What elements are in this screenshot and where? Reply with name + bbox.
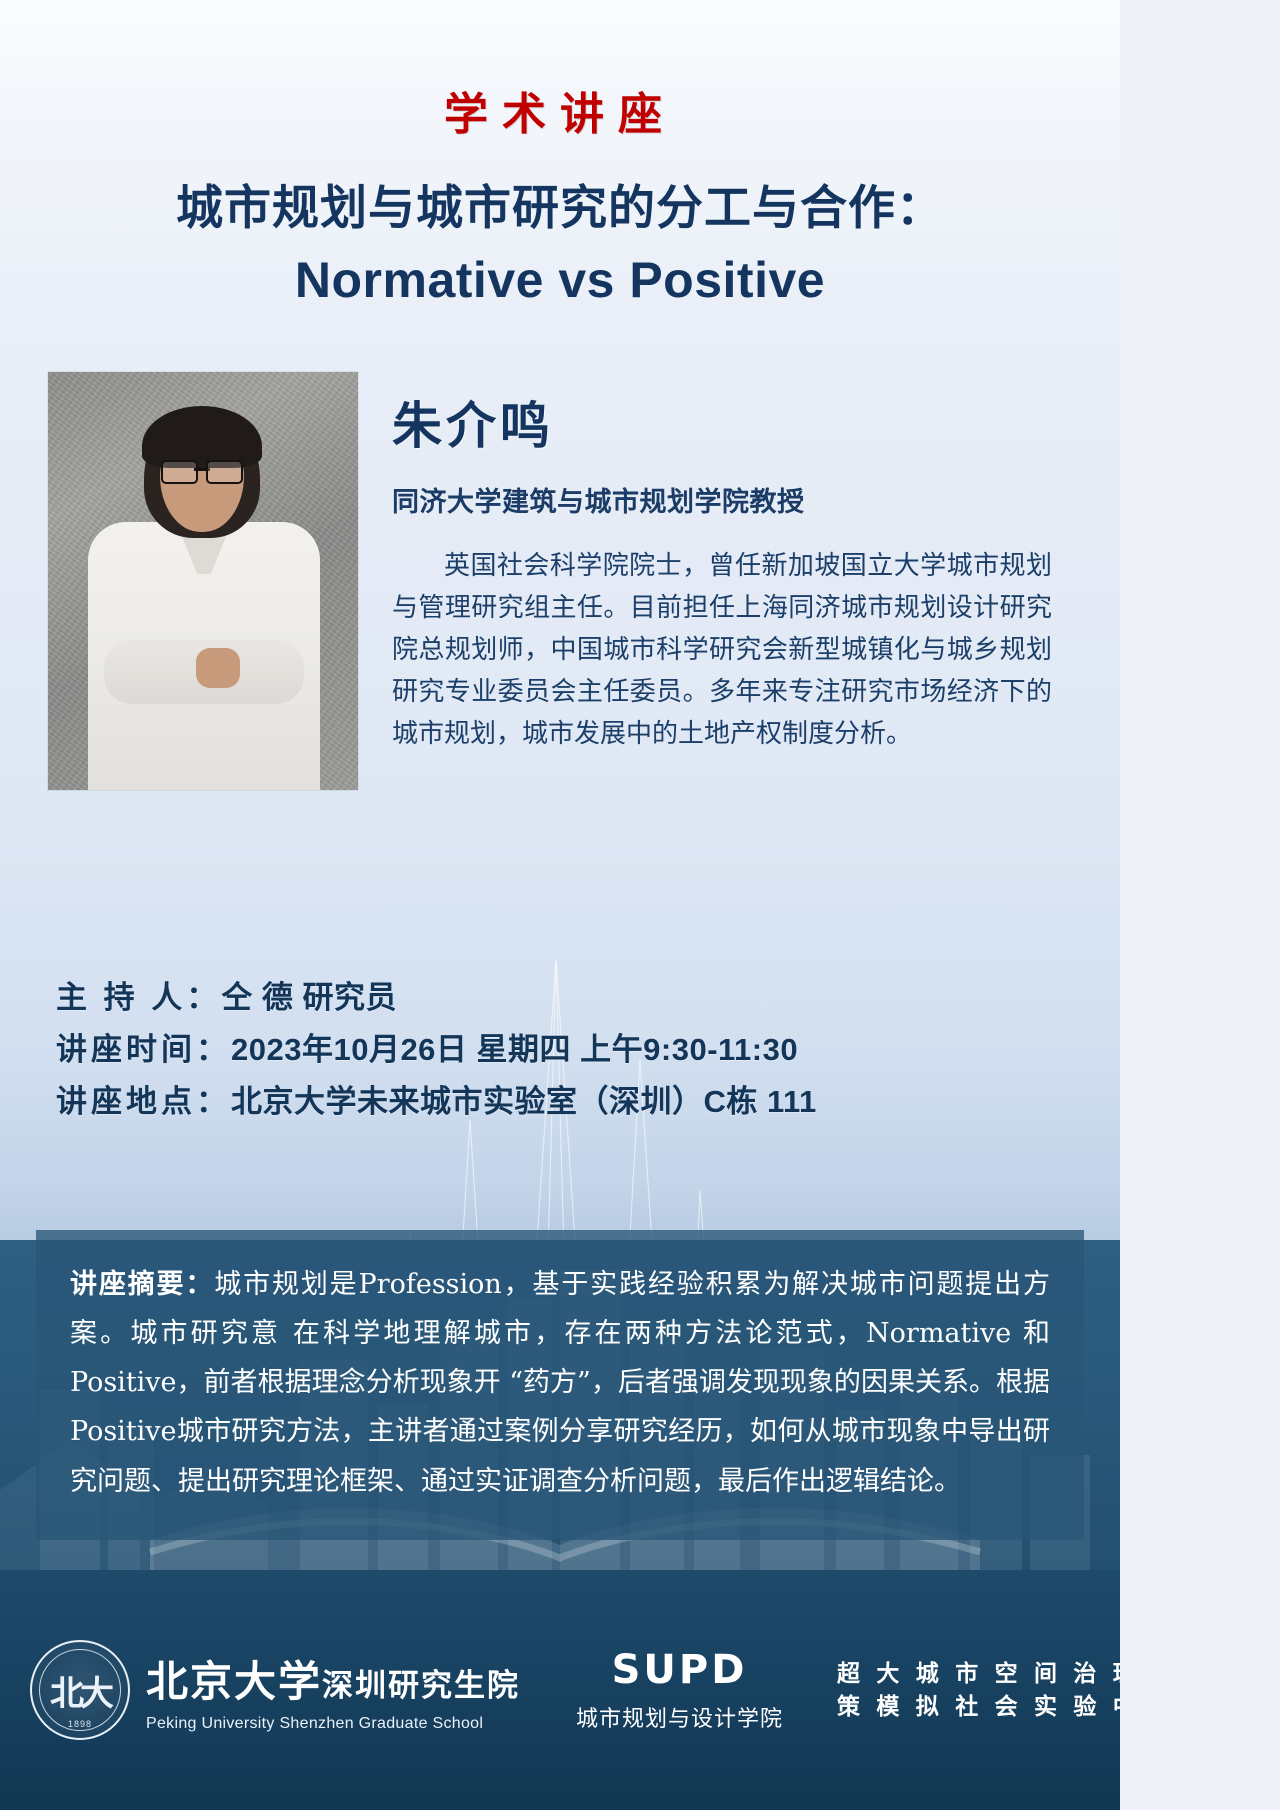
speaker-name: 朱介鸣 [392,386,1052,458]
abstract-panel: 讲座摘要：城市规划是Profession，基于实践经验积累为解决城市问题提出方案… [36,1230,1084,1540]
title-line-2: Normative vs Positive [0,248,1120,312]
speaker-block: 朱介鸣 同济大学建筑与城市规划学院教授 英国社会科学院院士，曾任新加坡国立大学城… [392,386,1052,756]
pku-logo-group: 北大 1898 北京大学深圳研究生院 Peking University She… [30,1640,520,1740]
pku-sub-cn: 深圳研究生院 [322,1668,520,1703]
portrait-hand [196,648,240,688]
host-row: 主 持 人：仝 德 研究员 [56,972,1066,1024]
time-value: 2023年10月26日 星期四 上午9:30-11:30 [231,1032,798,1067]
speaker-portrait-photo [48,372,358,790]
location-value: 北京大学未来城市实验室（深圳）C栋 111 [231,1084,817,1119]
time-row: 讲座时间：2023年10月26日 星期四 上午9:30-11:30 [56,1024,1066,1076]
location-row: 讲座地点：北京大学未来城市实验室（深圳）C栋 111 [56,1076,1066,1128]
glasses-icon [161,460,243,480]
time-label: 讲座时间： [56,1032,231,1067]
host-label: 主 持 人： [56,980,221,1015]
lab-name-line-1: 超 大 城 市 空 间 治 理 政 [837,1657,1120,1690]
poster-kicker: 学术讲座 [0,78,1120,142]
pku-name-en: Peking University Shenzhen Graduate Scho… [146,1715,520,1733]
event-details: 主 持 人：仝 德 研究员 讲座时间：2023年10月26日 星期四 上午9:3… [56,972,1066,1128]
pku-wordmark: 北京大学深圳研究生院 Peking University Shenzhen Gr… [146,1648,520,1733]
title-line-1: 城市规划与城市研究的分工与合作： [0,178,1120,238]
supd-name-cn: 城市规划与设计学院 [576,1701,783,1733]
peking-university-seal-icon: 北大 1898 [30,1640,130,1740]
abstract-label: 讲座摘要： [70,1269,214,1300]
location-label: 讲座地点： [56,1084,231,1119]
lab-name-line-2: 策 模 拟 社 会 实 验 中 心 [837,1690,1120,1723]
pku-main-cn: 北京大学 [146,1658,322,1705]
footer-logo-bar: 北大 1898 北京大学深圳研究生院 Peking University She… [0,1570,1120,1810]
abstract-body: 城市规划是Profession，基于实践经验积累为解决城市问题提出方案。城市研究… [70,1269,1050,1497]
supd-abbreviation: SUPD [576,1647,783,1693]
speaker-affiliation: 同济大学建筑与城市规划学院教授 [392,480,1052,519]
lecture-poster: 学术讲座 城市规划与城市研究的分工与合作： Normative vs Posit… [0,0,1120,1810]
pku-name-cn: 北京大学深圳研究生院 [146,1648,520,1709]
host-value: 仝 德 研究员 [221,980,397,1015]
lab-name-group: 超 大 城 市 空 间 治 理 政 策 模 拟 社 会 实 验 中 心 [837,1657,1120,1722]
speaker-biography: 英国社会科学院院士，曾任新加坡国立大学城市规划与管理研究组主任。目前担任上海同济… [392,545,1052,756]
page-title: 城市规划与城市研究的分工与合作： Normative vs Positive [0,178,1120,312]
abstract-text: 讲座摘要：城市规划是Profession，基于实践经验积累为解决城市问题提出方案… [70,1260,1050,1506]
supd-logo-group: SUPD 城市规划与设计学院 [576,1647,783,1733]
seal-year: 1898 [32,1719,128,1729]
